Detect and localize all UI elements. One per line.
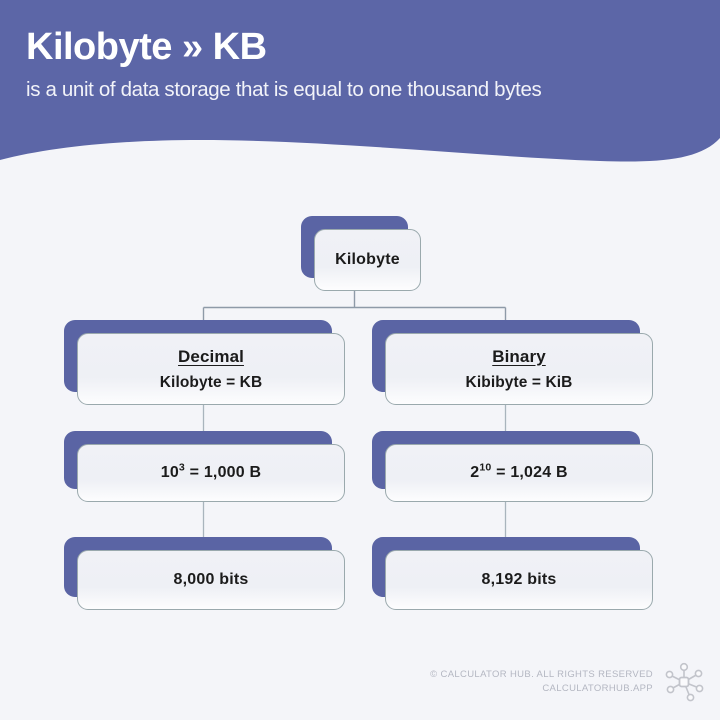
node-binary-power-card: 210 = 1,024 B	[385, 444, 653, 502]
node-decimal-power[interactable]: 103 = 1,000 B	[64, 431, 332, 489]
node-binary-power[interactable]: 210 = 1,024 B	[372, 431, 640, 489]
node-decimal-bits-label: 8,000 bits	[174, 571, 249, 589]
node-decimal-power-card: 103 = 1,000 B	[77, 444, 345, 502]
node-binary-power-exponent: 10	[479, 462, 491, 474]
node-binary[interactable]: Binary Kibibyte = KiB	[372, 320, 640, 392]
node-binary-power-label: 210 = 1,024 B	[470, 464, 568, 482]
footer: © CALCULATOR HUB. ALL RIGHTS RESERVED CA…	[430, 660, 706, 704]
diagram-container: Kilobyte Decimal Kilobyte = KB Binary Ki…	[0, 0, 720, 720]
node-binary-title: Binary	[492, 347, 546, 367]
node-decimal-subtitle: Kilobyte = KB	[160, 374, 263, 392]
footer-site: CALCULATORHUB.APP	[430, 682, 653, 696]
footer-text-block: © CALCULATOR HUB. ALL RIGHTS RESERVED CA…	[430, 668, 653, 696]
node-root[interactable]: Kilobyte	[301, 216, 408, 278]
node-decimal[interactable]: Decimal Kilobyte = KB	[64, 320, 332, 392]
node-decimal-bits-card: 8,000 bits	[77, 550, 345, 610]
node-binary-card: Binary Kibibyte = KiB	[385, 333, 653, 405]
node-decimal-card: Decimal Kilobyte = KB	[77, 333, 345, 405]
node-binary-bits-label: 8,192 bits	[482, 571, 557, 589]
node-binary-subtitle: Kibibyte = KiB	[466, 374, 573, 392]
node-root-card: Kilobyte	[314, 229, 421, 291]
node-decimal-title: Decimal	[178, 347, 244, 367]
footer-copyright: © CALCULATOR HUB. ALL RIGHTS RESERVED	[430, 668, 653, 682]
network-nodes-logo-icon	[662, 660, 706, 704]
node-binary-bits-card: 8,192 bits	[385, 550, 653, 610]
node-decimal-bits[interactable]: 8,000 bits	[64, 537, 332, 597]
node-decimal-power-label: 103 = 1,000 B	[161, 464, 262, 482]
node-root-label: Kilobyte	[335, 251, 400, 269]
node-binary-bits[interactable]: 8,192 bits	[372, 537, 640, 597]
